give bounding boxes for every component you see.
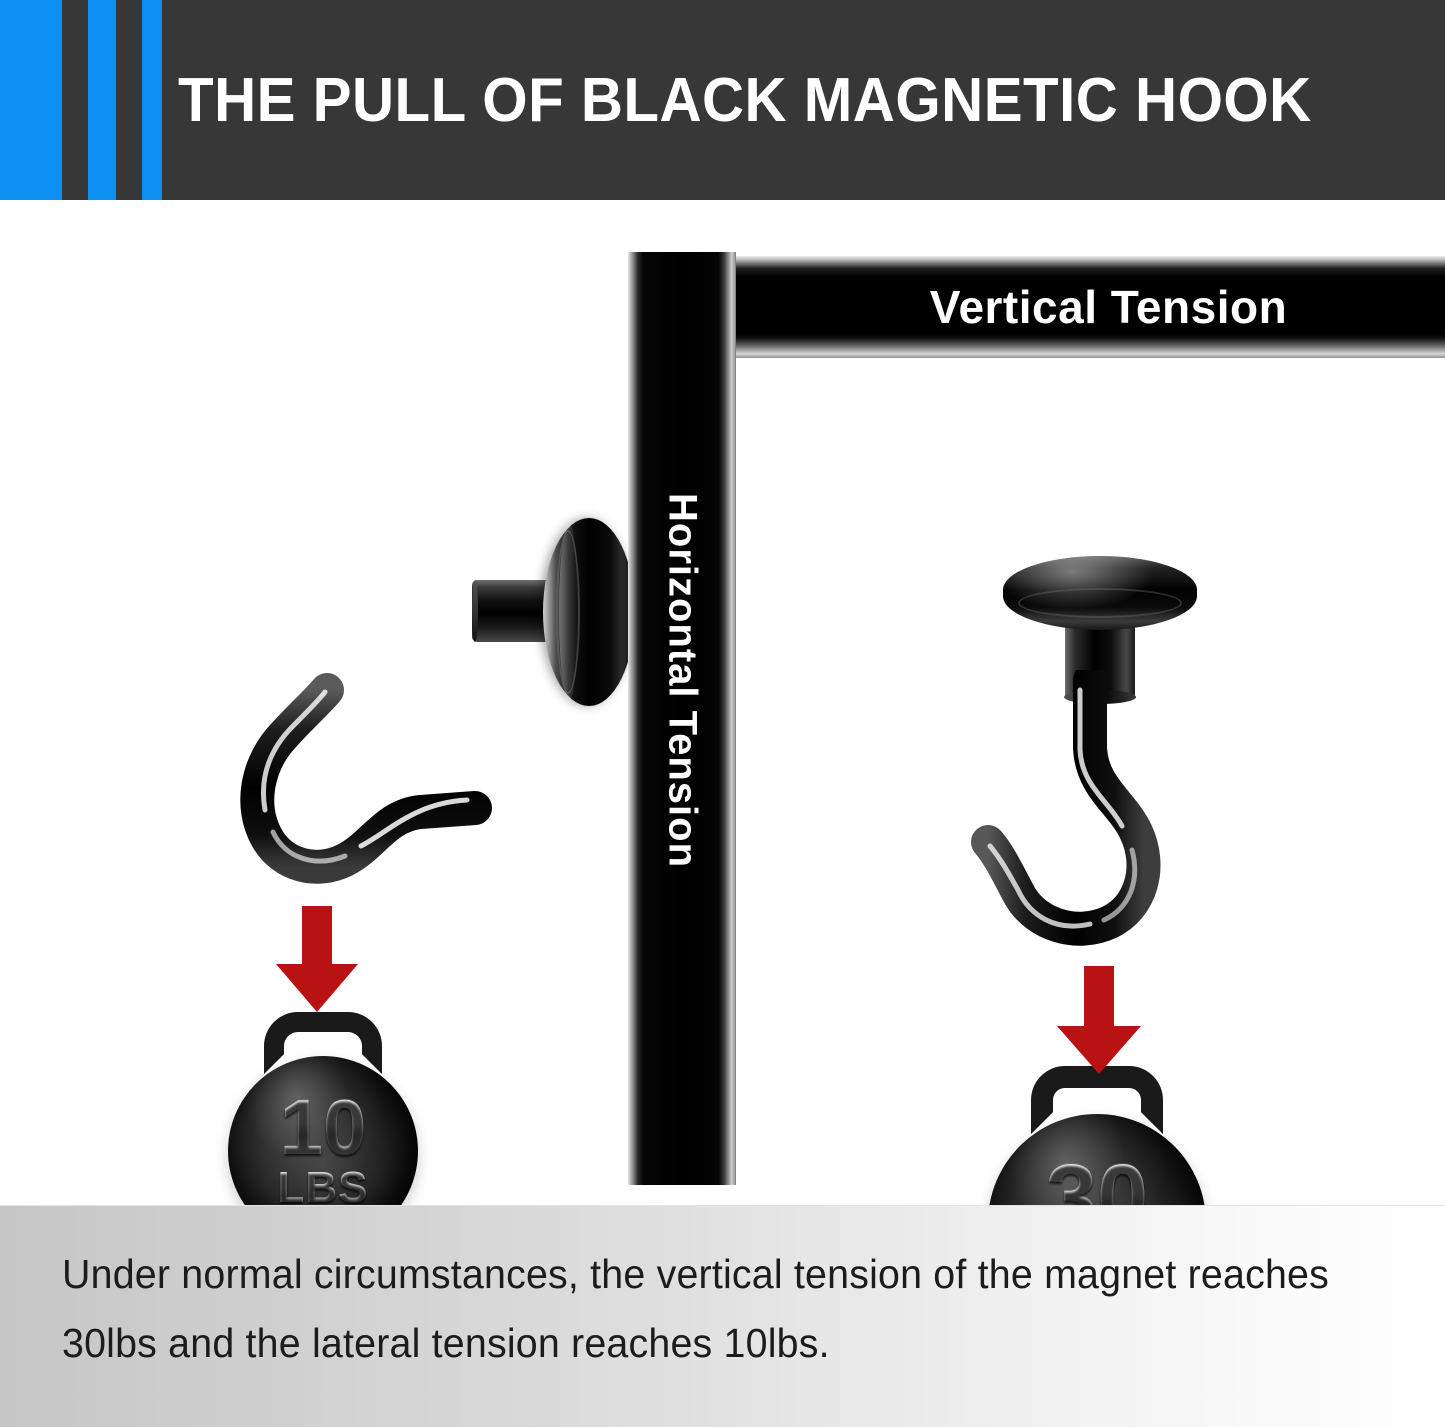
down-arrow-left-icon bbox=[272, 906, 362, 1014]
accent-bar-1 bbox=[0, 0, 62, 200]
horizontal-tension-label: Horizontal Tension bbox=[660, 493, 705, 868]
down-arrow-right-icon bbox=[1053, 966, 1145, 1076]
magnet-disc-rim-vertical bbox=[1018, 588, 1182, 618]
weight-10lbs: 10 LBS bbox=[228, 1012, 418, 1205]
vertical-tension-label: Vertical Tension bbox=[712, 256, 1445, 358]
weight-ball-right: 30 LBS bbox=[988, 1114, 1206, 1205]
weight-value-right: 30 bbox=[1046, 1155, 1148, 1205]
magnet-circle-icon bbox=[20, 1252, 54, 1286]
caption-text: Under normal circumstances, the vertical… bbox=[62, 1240, 1357, 1378]
magnet-disc-rim-horizontal bbox=[556, 530, 580, 694]
accent-bar-3 bbox=[142, 0, 162, 200]
infographic-page: THE PULL OF BLACK MAGNETIC HOOK Horizont… bbox=[0, 0, 1445, 1427]
weight-30lbs: 30 LBS bbox=[988, 1066, 1206, 1205]
weight-ball-left: 10 LBS bbox=[228, 1056, 418, 1205]
horizontal-tension-label-wrap: Horizontal Tension bbox=[628, 252, 736, 1185]
weight-unit-left: LBS bbox=[278, 1166, 369, 1205]
page-title: THE PULL OF BLACK MAGNETIC HOOK bbox=[178, 0, 1353, 200]
diagram-stage: Horizontal Tension Vertical Tension bbox=[0, 200, 1445, 1205]
caption-panel: Under normal circumstances, the vertical… bbox=[0, 1205, 1445, 1427]
accent-bar-2 bbox=[88, 0, 116, 200]
weight-value-left: 10 bbox=[280, 1092, 367, 1164]
horizontal-tension-post: Horizontal Tension bbox=[628, 252, 736, 1185]
vertical-tension-beam: Vertical Tension bbox=[712, 256, 1445, 358]
magnetic-hook-horizontal-icon bbox=[205, 660, 555, 920]
caption-row: Under normal circumstances, the vertical… bbox=[20, 1240, 1411, 1378]
magnetic-hook-vertical-icon bbox=[940, 670, 1240, 990]
header-banner: THE PULL OF BLACK MAGNETIC HOOK bbox=[0, 0, 1445, 200]
